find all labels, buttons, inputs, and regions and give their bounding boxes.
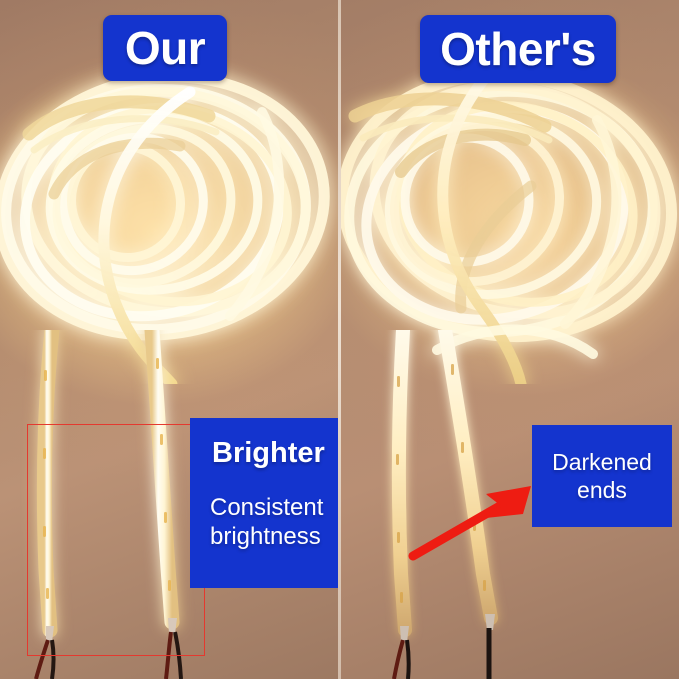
- callout-brighter-headline: Brighter: [212, 438, 325, 468]
- callout-brighter-line2: brightness: [210, 523, 323, 551]
- callout-brighter-line1: Consistent: [210, 494, 323, 522]
- strip-end-connector-right-dim: [485, 614, 495, 679]
- panel-others: [341, 0, 679, 679]
- comparison-image: Our Other's Brighter Consistent brightne…: [0, 0, 679, 679]
- label-others: Other's: [420, 15, 616, 83]
- callout-darkened-line2: ends: [552, 476, 652, 504]
- highlight-rect-our: [27, 424, 205, 656]
- label-our: Our: [103, 15, 227, 81]
- strip-end-connector-left-dim: [394, 626, 409, 679]
- label-our-text: Our: [125, 25, 205, 71]
- label-others-text: Other's: [440, 26, 596, 72]
- panel-divider: [338, 0, 341, 679]
- callout-brighter-subline: Consistent brightness: [210, 494, 323, 551]
- callout-brighter: Brighter Consistent brightness: [190, 418, 338, 588]
- callout-darkened-ends: Darkened ends: [532, 425, 672, 527]
- callout-darkened-line1: Darkened: [552, 448, 652, 476]
- callout-darkened-subline: Darkened ends: [552, 448, 652, 504]
